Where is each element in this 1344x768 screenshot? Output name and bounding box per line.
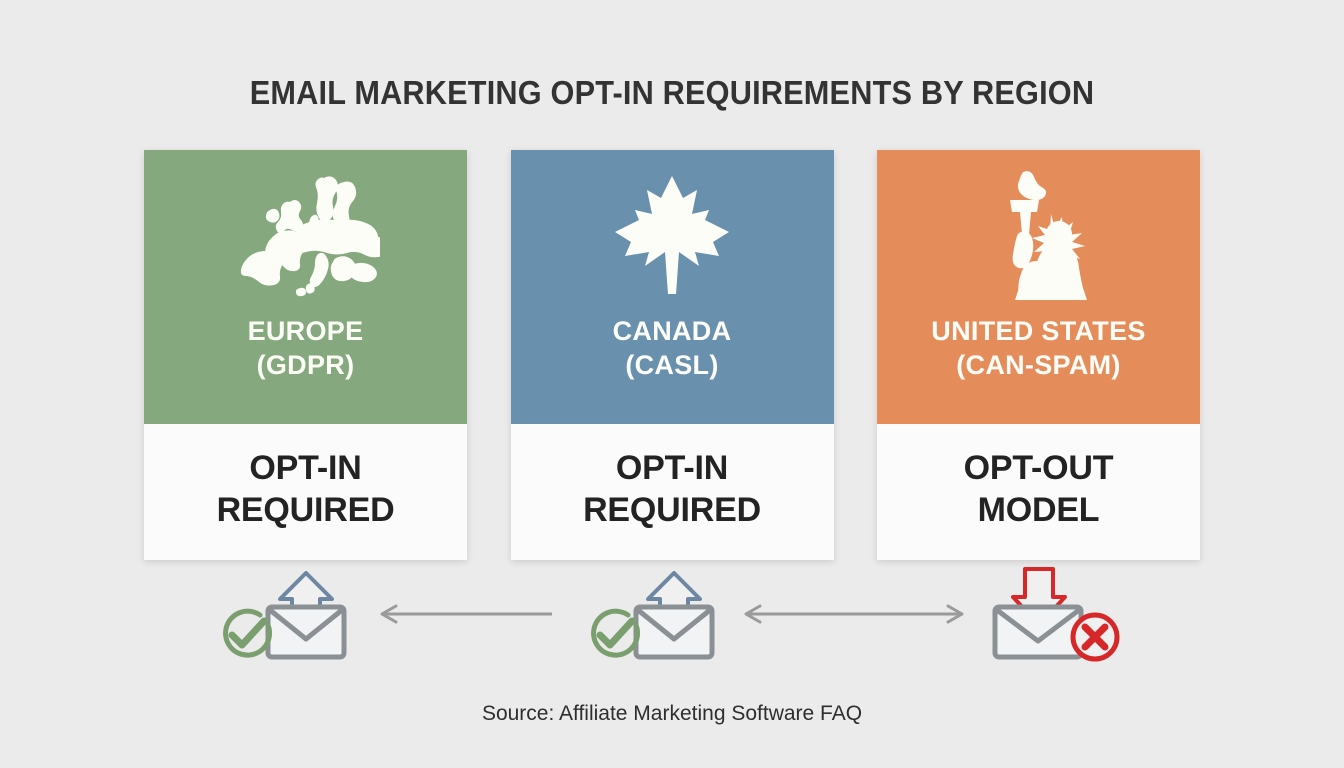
envelope-icon — [995, 607, 1081, 657]
connector-right — [732, 601, 976, 627]
envelope-icon — [268, 607, 344, 657]
card-body-canada: OPT-IN REQUIRED — [511, 424, 834, 560]
maple-leaf-icon — [613, 172, 731, 300]
opt-out-envelope-united-states[interactable] — [979, 565, 1149, 665]
rule-line-2: MODEL — [964, 489, 1114, 531]
rule-line-1: OPT-IN — [249, 449, 361, 487]
region-line-1: CANADA — [613, 316, 732, 346]
rule-line-1: OPT-OUT — [964, 449, 1114, 487]
region-line-2: (CAN-SPAM) — [931, 348, 1145, 382]
rule-line-2: REQUIRED — [583, 489, 761, 531]
check-circle-icon — [594, 611, 638, 655]
europe-map-icon — [232, 172, 380, 300]
card-header-europe: EUROPE (GDPR) — [144, 150, 467, 424]
region-line-1: EUROPE — [248, 316, 364, 346]
region-card-europe[interactable]: EUROPE (GDPR) OPT-IN REQUIRED — [144, 150, 467, 560]
card-header-united-states: UNITED STATES (CAN-SPAM) — [877, 150, 1200, 424]
connector-left — [366, 601, 556, 627]
card-rule-united-states: OPT-OUT MODEL — [964, 447, 1114, 531]
card-body-europe: OPT-IN REQUIRED — [144, 424, 467, 560]
card-rule-canada: OPT-IN REQUIRED — [583, 447, 761, 531]
card-region-label-united-states: UNITED STATES (CAN-SPAM) — [931, 314, 1145, 383]
card-body-united-states: OPT-OUT MODEL — [877, 424, 1200, 560]
card-region-label-europe: EUROPE (GDPR) — [248, 314, 364, 383]
card-rule-europe: OPT-IN REQUIRED — [217, 447, 395, 531]
envelope-icon — [636, 607, 712, 657]
rule-line-1: OPT-IN — [616, 449, 728, 487]
card-header-canada: CANADA (CASL) — [511, 150, 834, 424]
region-line-1: UNITED STATES — [931, 316, 1145, 346]
region-card-canada[interactable]: CANADA (CASL) OPT-IN REQUIRED — [511, 150, 834, 560]
region-card-united-states[interactable]: UNITED STATES (CAN-SPAM) OPT-OUT MODEL — [877, 150, 1200, 560]
rule-line-2: REQUIRED — [217, 489, 395, 531]
source-caption: Source: Affiliate Marketing Software FAQ — [0, 702, 1344, 726]
card-region-label-canada: CANADA (CASL) — [613, 314, 732, 383]
flow-row — [144, 565, 1200, 665]
x-circle-icon — [1073, 615, 1117, 659]
infographic-canvas: EMAIL MARKETING OPT-IN REQUIREMENTS BY R… — [0, 0, 1344, 768]
page-title: EMAIL MARKETING OPT-IN REQUIREMENTS BY R… — [47, 74, 1297, 112]
check-circle-icon — [226, 611, 270, 655]
region-line-2: (CASL) — [613, 348, 732, 382]
region-card-row: EUROPE (GDPR) OPT-IN REQUIRED — [144, 150, 1200, 560]
statue-of-liberty-icon — [983, 172, 1095, 300]
opt-in-envelope-europe[interactable] — [220, 565, 390, 665]
region-line-2: (GDPR) — [248, 348, 364, 382]
